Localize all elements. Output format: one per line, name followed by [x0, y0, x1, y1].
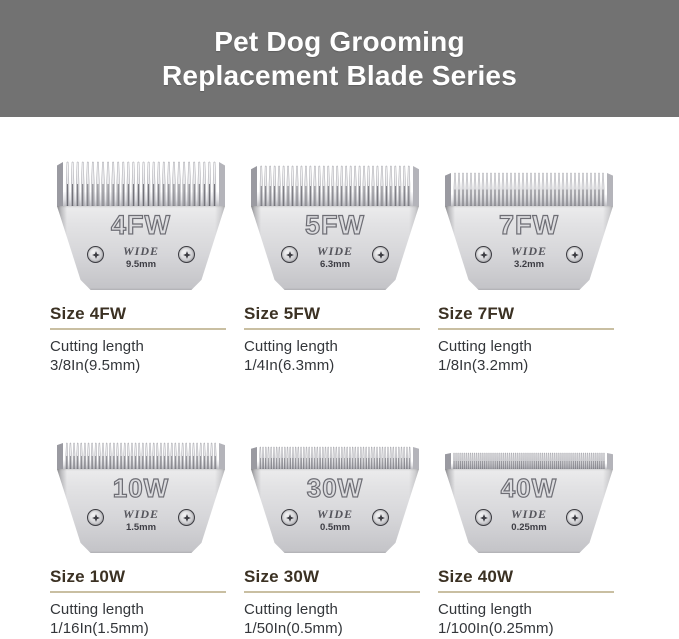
product-size-title: Size 4FW	[50, 304, 230, 328]
blade-size-stamp: 10W	[57, 473, 225, 504]
blade-size-stamp: 7FW	[445, 210, 613, 241]
blade-wide-stamp: WIDE	[251, 507, 419, 522]
blade-graphic: 7FW WIDE 3.2mm	[445, 154, 613, 290]
cutting-length-value: 1/16In(1.5mm)	[50, 619, 230, 639]
blade-mm-stamp: 0.5mm	[251, 522, 419, 533]
product-row-top: 4FW WIDE 9.5mm Size 4FW Cutting length 3…	[0, 150, 679, 410]
blade-mm-stamp: 1.5mm	[57, 522, 225, 533]
blade-mm-stamp: 3.2mm	[445, 259, 613, 270]
screw-hole-right-icon	[372, 246, 389, 263]
caption-divider	[438, 591, 614, 593]
product-size-title: Size 5FW	[244, 304, 424, 328]
blade-body: 7FW WIDE 3.2mm	[445, 206, 613, 290]
cutting-length-value: 1/50In(0.5mm)	[244, 619, 424, 639]
blade-size-stamp: 5FW	[251, 210, 419, 241]
product-caption: Size 30W Cutting length 1/50In(0.5mm)	[238, 567, 432, 639]
blade-graphic: 30W WIDE 0.5mm	[251, 417, 419, 553]
blade-graphic: 40W WIDE 0.25mm	[445, 417, 613, 553]
product-caption: Size 5FW Cutting length 1/4In(6.3mm)	[238, 304, 432, 376]
product-size-title: Size 7FW	[438, 304, 618, 328]
cutting-length-value: 1/8In(3.2mm)	[438, 356, 618, 376]
screw-hole-left-icon	[87, 509, 104, 526]
screw-hole-right-icon	[178, 509, 195, 526]
cutting-length-label: Cutting length	[438, 600, 618, 620]
product-card: 5FW WIDE 6.3mm Size 5FW Cutting length 1…	[238, 150, 432, 410]
product-size-title: Size 40W	[438, 567, 618, 591]
cutting-length-value: 1/100In(0.25mm)	[438, 619, 618, 639]
blade-teeth	[445, 154, 613, 206]
blade-teeth	[251, 417, 419, 469]
product-card: 40W WIDE 0.25mm Size 40W Cutting length …	[432, 415, 626, 637]
product-card: 10W WIDE 1.5mm Size 10W Cutting length 1…	[44, 415, 238, 637]
blade-wide-stamp: WIDE	[57, 244, 225, 259]
product-row-bottom: 10W WIDE 1.5mm Size 10W Cutting length 1…	[0, 415, 679, 637]
blade-graphic: 4FW WIDE 9.5mm	[57, 154, 225, 290]
screw-hole-right-icon	[372, 509, 389, 526]
header-banner: Pet Dog Grooming Replacement Blade Serie…	[0, 0, 679, 117]
blade-graphic: 5FW WIDE 6.3mm	[251, 154, 419, 290]
product-caption: Size 10W Cutting length 1/16In(1.5mm)	[44, 567, 238, 639]
blade-image-2: 7FW WIDE 3.2mm	[432, 150, 626, 290]
blade-body: 5FW WIDE 6.3mm	[251, 206, 419, 290]
caption-divider	[50, 328, 226, 330]
cutting-length-label: Cutting length	[50, 337, 230, 357]
blade-image-4: 30W WIDE 0.5mm	[238, 415, 432, 553]
blade-mm-stamp: 6.3mm	[251, 259, 419, 270]
blade-image-3: 10W WIDE 1.5mm	[44, 415, 238, 553]
product-card: 4FW WIDE 9.5mm Size 4FW Cutting length 3…	[44, 150, 238, 410]
screw-hole-right-icon	[566, 246, 583, 263]
cutting-length-label: Cutting length	[438, 337, 618, 357]
cutting-length-label: Cutting length	[50, 600, 230, 620]
screw-hole-left-icon	[475, 509, 492, 526]
blade-body: 30W WIDE 0.5mm	[251, 469, 419, 553]
product-card: 7FW WIDE 3.2mm Size 7FW Cutting length 1…	[432, 150, 626, 410]
blade-wide-stamp: WIDE	[445, 507, 613, 522]
infographic-page: Pet Dog Grooming Replacement Blade Serie…	[0, 0, 679, 637]
screw-hole-left-icon	[87, 246, 104, 263]
blade-wide-stamp: WIDE	[251, 244, 419, 259]
product-caption: Size 7FW Cutting length 1/8In(3.2mm)	[432, 304, 626, 376]
blade-graphic: 10W WIDE 1.5mm	[57, 417, 225, 553]
blade-body: 4FW WIDE 9.5mm	[57, 206, 225, 290]
product-caption: Size 4FW Cutting length 3/8In(9.5mm)	[44, 304, 238, 376]
blade-body: 40W WIDE 0.25mm	[445, 469, 613, 553]
cutting-length-value: 1/4In(6.3mm)	[244, 356, 424, 376]
blade-teeth	[57, 417, 225, 469]
blade-body: 10W WIDE 1.5mm	[57, 469, 225, 553]
blade-size-stamp: 4FW	[57, 210, 225, 241]
caption-divider	[50, 591, 226, 593]
caption-divider	[244, 591, 420, 593]
blade-size-stamp: 40W	[445, 473, 613, 504]
page-title: Pet Dog Grooming Replacement Blade Serie…	[162, 25, 517, 91]
product-caption: Size 40W Cutting length 1/100In(0.25mm)	[432, 567, 626, 639]
page-title-line-2: Replacement Blade Series	[162, 59, 517, 92]
page-title-line-1: Pet Dog Grooming	[162, 25, 517, 58]
blade-wide-stamp: WIDE	[57, 507, 225, 522]
screw-hole-left-icon	[281, 246, 298, 263]
blade-size-stamp: 30W	[251, 473, 419, 504]
screw-hole-left-icon	[281, 509, 298, 526]
caption-divider	[244, 328, 420, 330]
screw-hole-left-icon	[475, 246, 492, 263]
cutting-length-label: Cutting length	[244, 600, 424, 620]
blade-image-5: 40W WIDE 0.25mm	[432, 415, 626, 553]
product-card: 30W WIDE 0.5mm Size 30W Cutting length 1…	[238, 415, 432, 637]
screw-hole-right-icon	[178, 246, 195, 263]
cutting-length-value: 3/8In(9.5mm)	[50, 356, 230, 376]
cutting-length-label: Cutting length	[244, 337, 424, 357]
screw-hole-right-icon	[566, 509, 583, 526]
blade-wide-stamp: WIDE	[445, 244, 613, 259]
caption-divider	[438, 328, 614, 330]
product-size-title: Size 30W	[244, 567, 424, 591]
blade-image-1: 5FW WIDE 6.3mm	[238, 150, 432, 290]
blade-teeth	[57, 154, 225, 206]
blade-teeth	[251, 154, 419, 206]
blade-image-0: 4FW WIDE 9.5mm	[44, 150, 238, 290]
blade-teeth	[445, 417, 613, 469]
product-size-title: Size 10W	[50, 567, 230, 591]
blade-mm-stamp: 9.5mm	[57, 259, 225, 270]
blade-mm-stamp: 0.25mm	[445, 522, 613, 533]
